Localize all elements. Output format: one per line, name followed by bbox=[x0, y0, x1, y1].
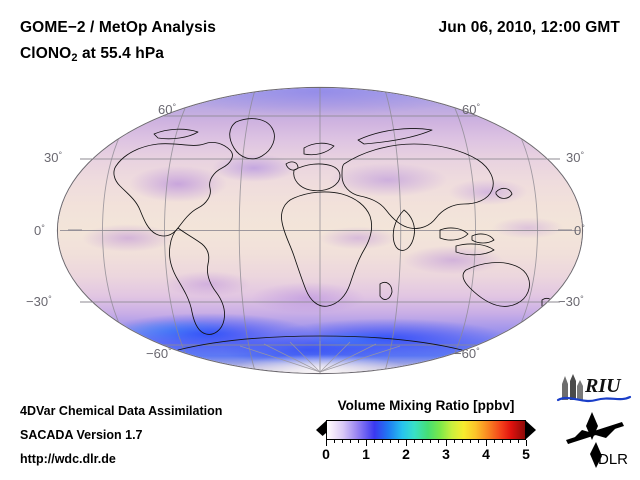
colorbar-tick-minor bbox=[470, 440, 471, 443]
colorbar-tick-minor bbox=[350, 440, 351, 443]
colorbar-extend-min-arrow bbox=[316, 420, 327, 440]
colorbar-tick-minor bbox=[462, 440, 463, 443]
species-name: ClONO bbox=[20, 45, 71, 62]
colorbar-tick-minor bbox=[502, 440, 503, 443]
lat-label-left-60: 60° bbox=[158, 102, 176, 117]
colorbar-tick-label: 4 bbox=[482, 446, 490, 462]
lat-label-left--30: −30° bbox=[26, 294, 52, 309]
footer-line-method: 4DVar Chemical Data Assimilation bbox=[20, 404, 222, 418]
timestamp-label: Jun 06, 2010, 12:00 GMT bbox=[439, 19, 621, 37]
lat-label-right-0: 0° bbox=[574, 223, 585, 238]
riu-logo: RIU bbox=[556, 372, 632, 406]
colorbar: Volume Mixing Ratio [ppbv] 012345 bbox=[316, 398, 536, 468]
lat-label-left-0: 0° bbox=[34, 223, 45, 238]
lat-label-right--60: −60° bbox=[454, 346, 480, 361]
colorbar-frame bbox=[316, 420, 536, 440]
lat-label-right-30: 30° bbox=[566, 150, 584, 165]
colorbar-tick-minor bbox=[334, 440, 335, 443]
colorbar-tick-minor bbox=[454, 440, 455, 443]
colorbar-tick-label: 3 bbox=[442, 446, 450, 462]
species-level: at 55.4 hPa bbox=[78, 45, 165, 62]
colorbar-tick-minor bbox=[518, 440, 519, 443]
colorbar-tick-label: 1 bbox=[362, 446, 370, 462]
lat-label-right--30: −30° bbox=[558, 294, 584, 309]
riu-wave-icon bbox=[558, 397, 630, 401]
dlr-logo: DLR bbox=[562, 410, 634, 468]
colorbar-tick-minor bbox=[390, 440, 391, 443]
figure-title-instrument: GOME−2 / MetOp Analysis bbox=[20, 19, 216, 37]
colorbar-tick-minor bbox=[374, 440, 375, 443]
dlr-wordmark: DLR bbox=[598, 451, 628, 468]
colorbar-tick-minor bbox=[342, 440, 343, 443]
colorbar-tick-minor bbox=[510, 440, 511, 443]
mollweide-globe bbox=[58, 88, 582, 373]
map-panel: 60° 30° 0° −30° −60° 60° 30° 0° −30° −60… bbox=[50, 88, 590, 378]
riu-spires-icon bbox=[562, 374, 583, 400]
colorbar-tick-minor bbox=[414, 440, 415, 443]
riu-wordmark: RIU bbox=[584, 375, 622, 397]
colorbar-tick-minor bbox=[358, 440, 359, 443]
colorbar-tick-minor bbox=[422, 440, 423, 443]
globe-clip bbox=[58, 88, 582, 373]
figure-canvas: GOME−2 / MetOp Analysis ClONO2 at 55.4 h… bbox=[0, 0, 640, 480]
figure-title-species: ClONO2 at 55.4 hPa bbox=[20, 45, 164, 64]
lat-label-left--60: −60° bbox=[146, 346, 172, 361]
colorbar-tick-minor bbox=[438, 440, 439, 443]
coastline-overlay bbox=[58, 88, 582, 373]
colorbar-tick-label: 0 bbox=[322, 446, 330, 462]
colorbar-title: Volume Mixing Ratio [ppbv] bbox=[316, 398, 536, 413]
colorbar-tick-minor bbox=[478, 440, 479, 443]
colorbar-tick-label: 2 bbox=[402, 446, 410, 462]
lat-label-right-60: 60° bbox=[462, 102, 480, 117]
colorbar-tick-labels: 012345 bbox=[326, 446, 526, 466]
colorbar-tick-minor bbox=[382, 440, 383, 443]
colorbar-tick-label: 5 bbox=[522, 446, 530, 462]
colorbar-gradient bbox=[326, 420, 526, 440]
footer-line-url[interactable]: http://wdc.dlr.de bbox=[20, 452, 116, 466]
colorbar-tick-minor bbox=[430, 440, 431, 443]
footer-line-version: SACADA Version 1.7 bbox=[20, 428, 143, 442]
colorbar-tick-minor bbox=[398, 440, 399, 443]
lat-label-left-30: 30° bbox=[44, 150, 62, 165]
colorbar-tick-minor bbox=[494, 440, 495, 443]
colorbar-extend-max-arrow bbox=[525, 420, 536, 440]
